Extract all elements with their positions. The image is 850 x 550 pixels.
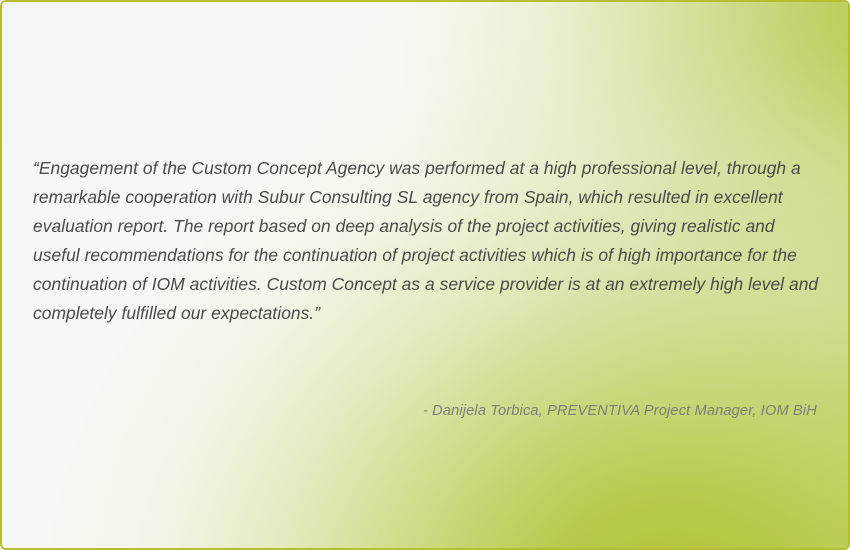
testimonial-card: “Engagement of the Custom Concept Agency…: [0, 0, 850, 550]
quote-block: “Engagement of the Custom Concept Agency…: [33, 154, 823, 328]
testimonial-quote-text: “Engagement of the Custom Concept Agency…: [33, 154, 823, 328]
testimonial-attribution-text: - Danijela Torbica, PREVENTIVA Project M…: [423, 400, 817, 422]
attribution-row: - Danijela Torbica, PREVENTIVA Project M…: [33, 400, 817, 422]
card-content: “Engagement of the Custom Concept Agency…: [2, 2, 848, 548]
